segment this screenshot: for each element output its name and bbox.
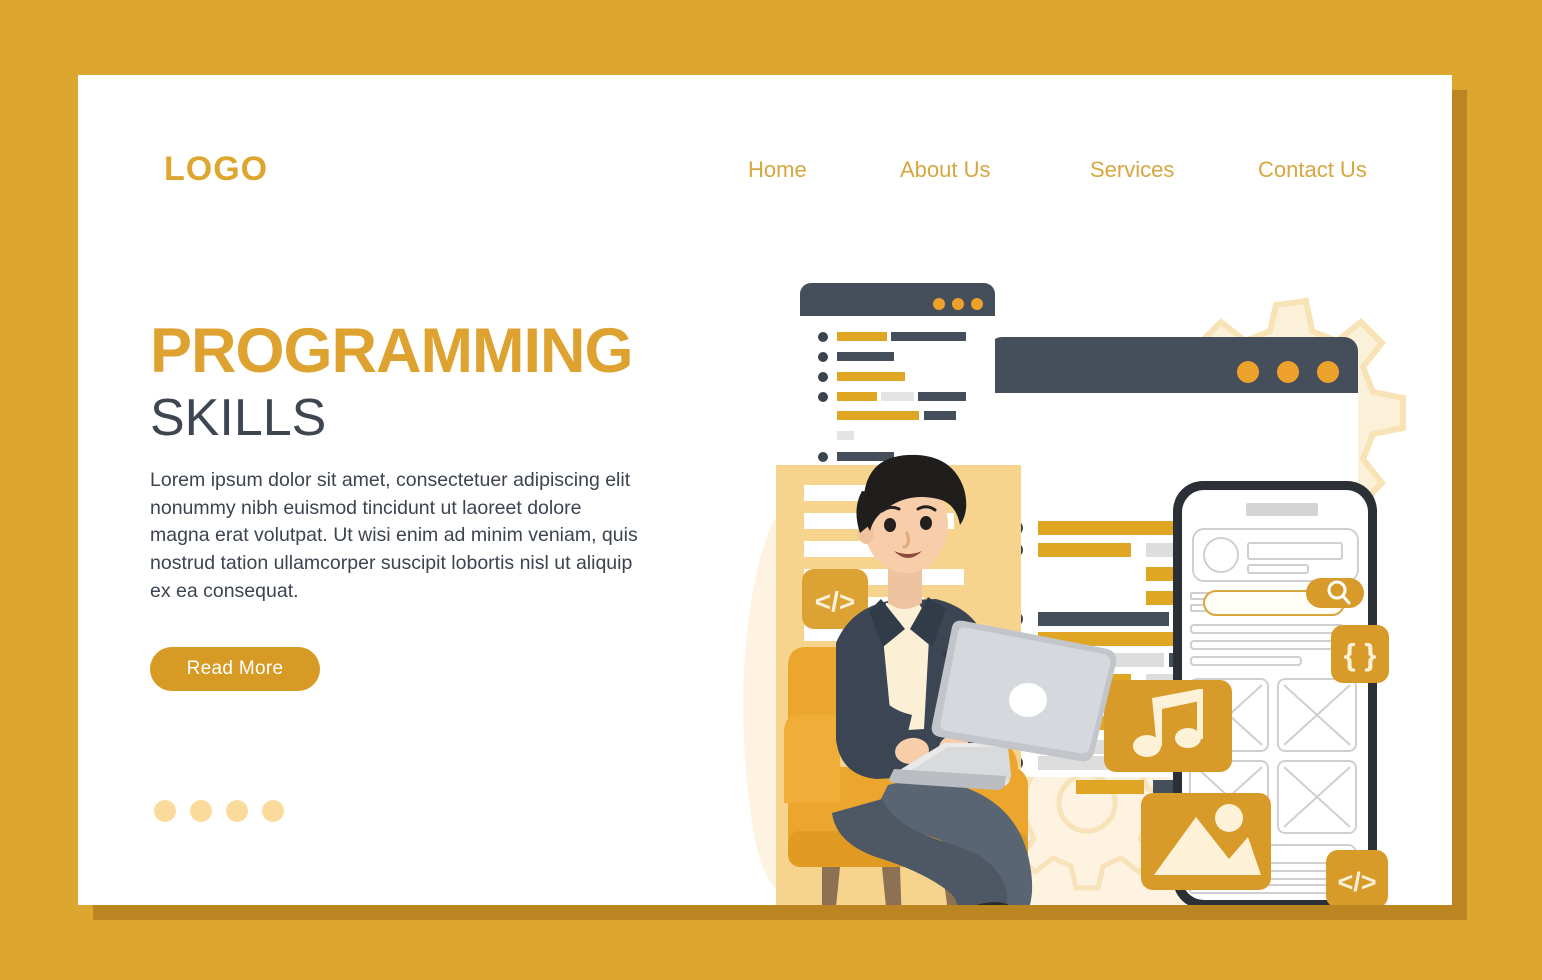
carousel-dot[interactable] — [190, 800, 212, 822]
carousel-dot[interactable] — [226, 800, 248, 822]
hero-illustration: { } </> </> — [676, 195, 1416, 905]
nav-item-about-us[interactable]: About Us — [900, 157, 991, 183]
nav-item-services[interactable]: Services — [1090, 157, 1174, 183]
page-root: LOGO Home About Us Services Contact Us P… — [0, 0, 1542, 980]
window-dot — [1277, 361, 1299, 383]
landing-card: LOGO Home About Us Services Contact Us P… — [78, 75, 1452, 905]
code-badge-bottom: </> — [1326, 850, 1388, 905]
nav-item-home[interactable]: Home — [748, 157, 807, 183]
window-dot — [952, 298, 964, 310]
music-badge — [1104, 680, 1232, 772]
carousel-dot[interactable] — [154, 800, 176, 822]
main-navigation: Home About Us Services Contact Us — [728, 157, 1408, 191]
image-badge — [1141, 793, 1271, 890]
window-dot — [1237, 361, 1259, 383]
window-dot — [1317, 361, 1339, 383]
page-title-line2: SKILLS — [150, 392, 326, 444]
page-title-line1: PROGRAMMING — [150, 320, 632, 383]
svg-text:</>: </> — [815, 586, 855, 617]
svg-text:{ }: { } — [1344, 637, 1377, 672]
svg-text:</>: </> — [1337, 867, 1376, 897]
search-badge — [1306, 578, 1364, 608]
braces-badge: { } — [1331, 625, 1389, 683]
carousel-dots — [154, 800, 294, 822]
logo[interactable]: LOGO — [164, 150, 268, 189]
nav-item-contact-us[interactable]: Contact Us — [1258, 157, 1367, 183]
hero-paragraph: Lorem ipsum dolor sit amet, consectetuer… — [150, 467, 645, 605]
carousel-dot[interactable] — [262, 800, 284, 822]
read-more-button[interactable]: Read More — [150, 647, 320, 691]
window-dot — [933, 298, 945, 310]
window-dot — [971, 298, 983, 310]
